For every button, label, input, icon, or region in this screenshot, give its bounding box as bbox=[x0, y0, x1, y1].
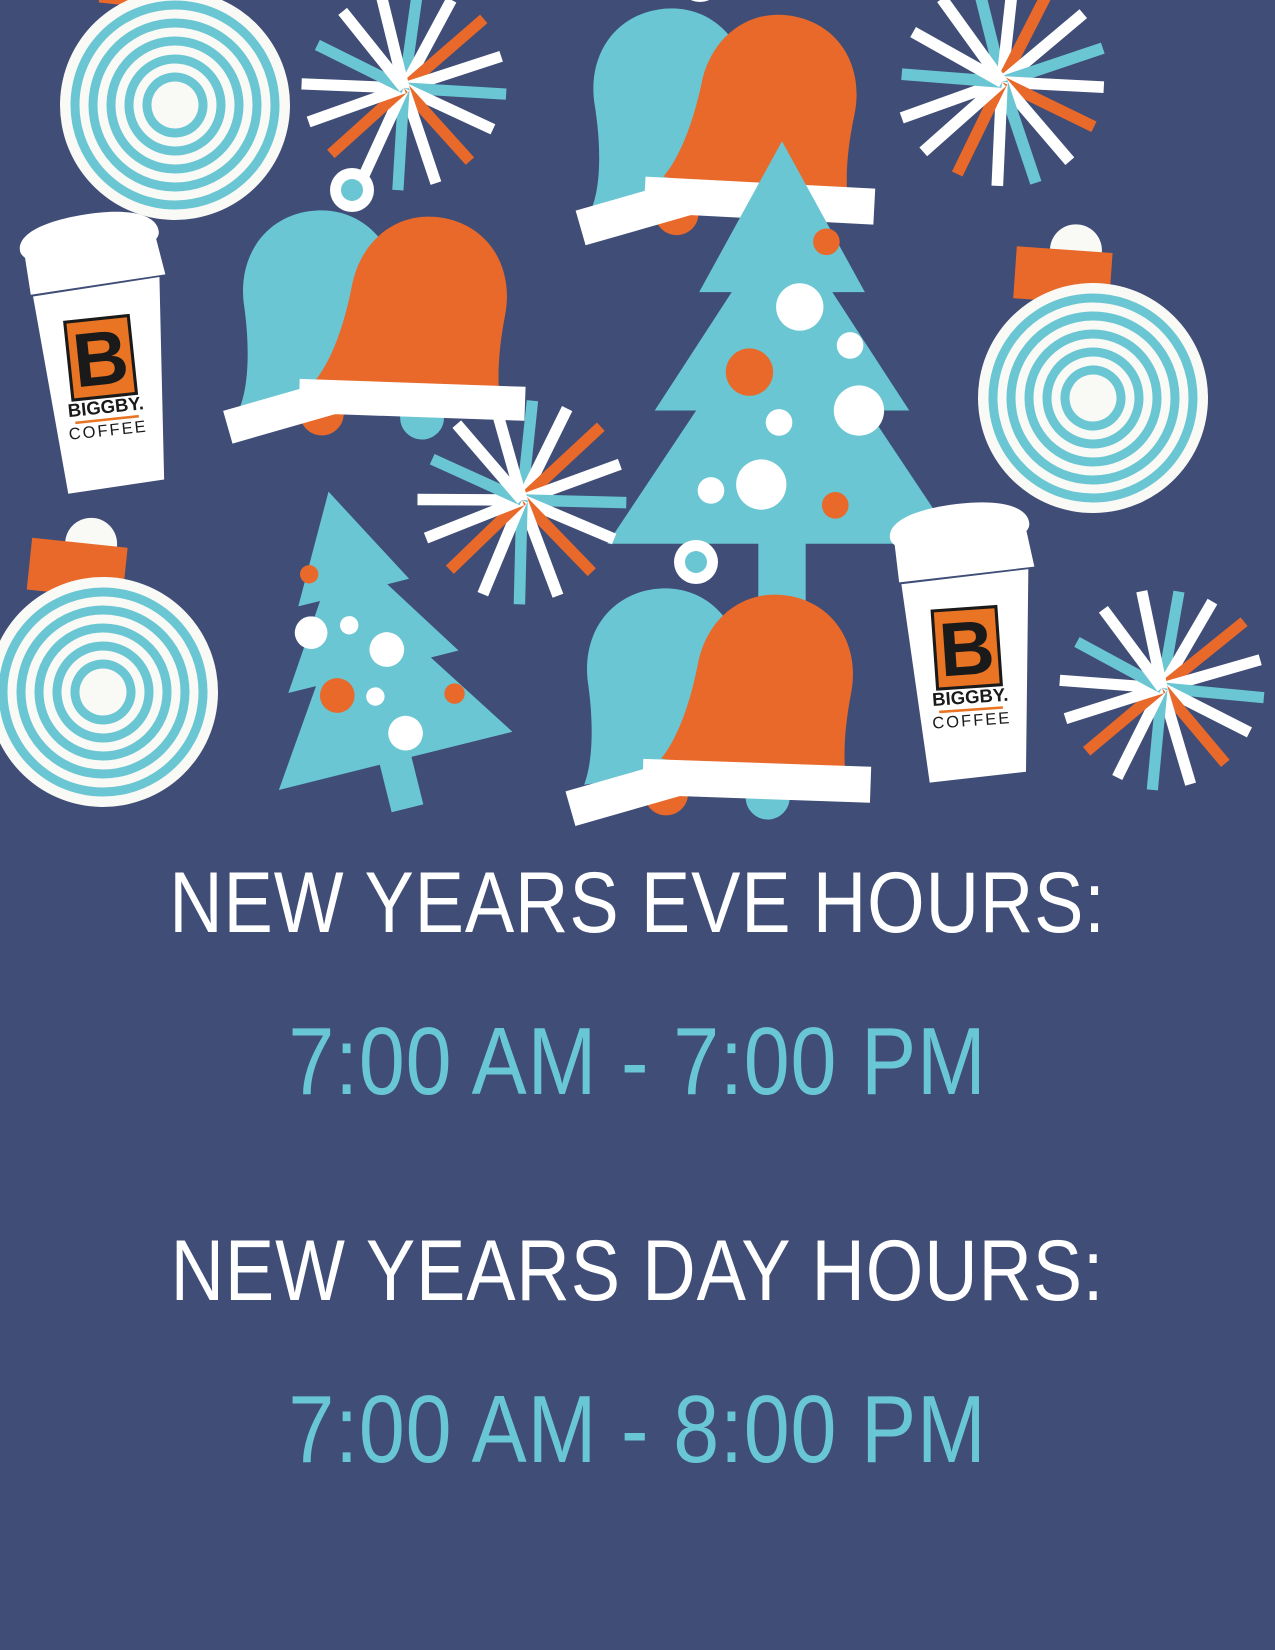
christmas-tree-small bbox=[212, 463, 525, 838]
new-years-eve-hours: 7:00 AM - 7:00 PM bbox=[89, 1014, 1186, 1110]
starburst-center bbox=[408, 390, 636, 614]
new-years-eve-heading: NEW YEARS EVE HOURS: bbox=[89, 860, 1186, 946]
starburst-bottom-right bbox=[1044, 574, 1275, 806]
holiday-hours-poster: B BIGGBY. COFFEE bbox=[0, 0, 1275, 1650]
new-years-day-hours: 7:00 AM - 8:00 PM bbox=[89, 1382, 1186, 1478]
bell-pair-bottom-center bbox=[539, 540, 905, 838]
coffee-cup-right bbox=[888, 499, 1049, 785]
ornament-ball-right bbox=[944, 204, 1229, 535]
ornament-ball-bottom-left bbox=[0, 501, 236, 826]
bell-pair-top-center bbox=[547, 0, 913, 261]
starburst-top-right bbox=[875, 0, 1131, 210]
bell-pair-upper-left bbox=[197, 168, 559, 458]
ornament-ball-top-left bbox=[32, 0, 309, 238]
coffee-cup-left bbox=[17, 206, 187, 496]
starburst-top-left bbox=[289, 0, 519, 203]
christmas-tree-large bbox=[607, 141, 956, 615]
hours-announcement: NEW YEARS EVE HOURS: 7:00 AM - 7:00 PM N… bbox=[0, 860, 1275, 1478]
new-years-day-heading: NEW YEARS DAY HOURS: bbox=[89, 1228, 1186, 1314]
